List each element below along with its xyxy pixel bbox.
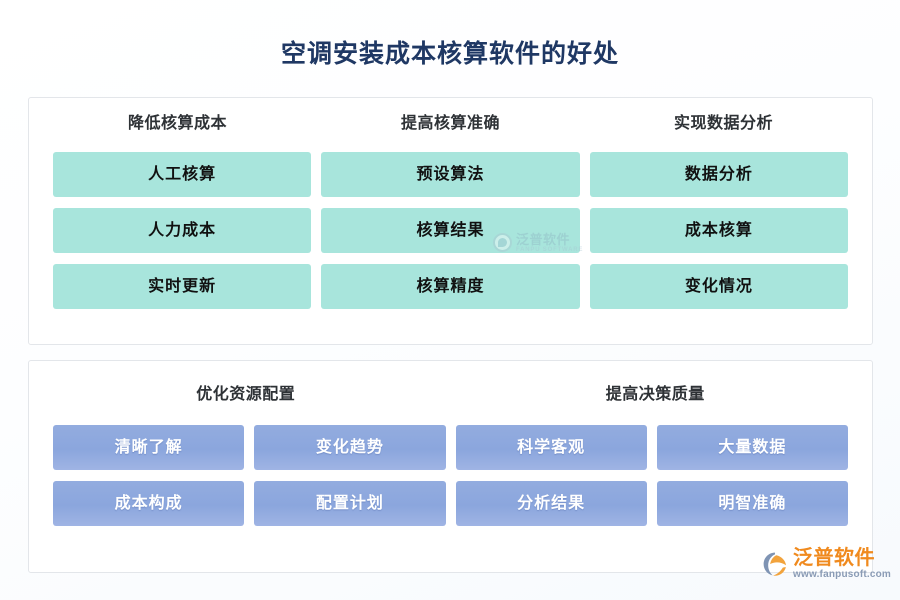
chip-item[interactable]: 人力成本 [53,208,311,253]
primary-heading-row: 降低核算成本 提高核算准确 实现数据分析 [29,98,872,132]
column-heading-data-analysis: 实现数据分析 [587,116,860,132]
chip-item[interactable]: 成本核算 [590,208,848,253]
chip-item[interactable]: 配置计划 [254,481,445,526]
column-heading-optimize-resources: 优化资源配置 [41,387,451,403]
chip-item[interactable]: 实时更新 [53,264,311,309]
chip-item[interactable]: 核算结果 [321,208,579,253]
column-heading-improve-accuracy: 提高核算准确 [314,116,587,132]
poster-page: 空调安装成本核算软件的好处 降低核算成本 提高核算准确 实现数据分析 人工核算 … [0,0,900,600]
brand-url: www.fanpusoft.com [793,570,891,581]
secondary-heading-row: 优化资源配置 提高决策质量 [29,361,872,403]
chip-item[interactable]: 变化趋势 [254,425,445,470]
column-heading-reduce-cost: 降低核算成本 [41,116,314,132]
chip-item[interactable]: 成本构成 [53,481,244,526]
chip-item[interactable]: 分析结果 [456,481,647,526]
brand-name-cn: 泛普软件 [793,548,891,569]
chip-item[interactable]: 大量数据 [657,425,848,470]
chip-item[interactable]: 核算精度 [321,264,579,309]
primary-chip-grid: 人工核算 预设算法 数据分析 人力成本 核算结果 成本核算 实时更新 核算精度 … [29,152,872,309]
chip-item[interactable]: 清晰了解 [53,425,244,470]
chip-item[interactable]: 变化情况 [590,264,848,309]
chip-item[interactable]: 数据分析 [590,152,848,197]
secondary-chip-grid: 清晰了解 变化趋势 科学客观 大量数据 成本构成 配置计划 分析结果 明智准确 [29,425,872,526]
chip-item[interactable]: 科学客观 [456,425,647,470]
benefits-primary-card: 降低核算成本 提高核算准确 实现数据分析 人工核算 预设算法 数据分析 人力成本… [28,97,873,345]
chip-item[interactable]: 明智准确 [657,481,848,526]
benefits-secondary-card: 优化资源配置 提高决策质量 清晰了解 变化趋势 科学客观 大量数据 成本构成 配… [28,360,873,573]
column-heading-improve-decisions: 提高决策质量 [451,387,861,403]
chip-item[interactable]: 人工核算 [53,152,311,197]
fanpu-logo-icon [762,551,788,577]
brand-logo: 泛普软件 www.fanpusoft.com [762,548,891,581]
brand-text: 泛普软件 www.fanpusoft.com [793,548,891,581]
chip-item[interactable]: 预设算法 [321,152,579,197]
page-title: 空调安装成本核算软件的好处 [0,0,900,42]
